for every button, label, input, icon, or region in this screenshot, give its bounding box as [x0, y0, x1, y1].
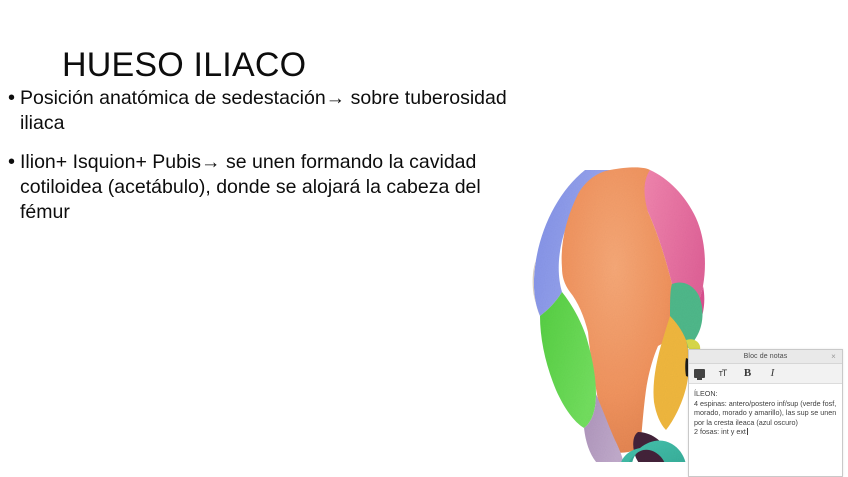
- notepad-toolbar: тT B I: [689, 364, 842, 384]
- notepad-titlebar[interactable]: Bloc de notas ×: [689, 350, 842, 364]
- bold-label: B: [744, 368, 751, 379]
- notepad-window[interactable]: Bloc de notas × тT B I ÍLEON: 4 espinas:…: [688, 349, 843, 477]
- list-item: • Posición anatómica de sedestación→ sob…: [8, 86, 528, 136]
- font-size-icon[interactable]: тT: [715, 366, 730, 381]
- screen-icon[interactable]: [694, 369, 705, 378]
- notepad-line: ÍLEON:: [694, 389, 838, 399]
- bullet-text: Posición anatómica de sedestación→ sobre…: [20, 86, 528, 136]
- page-title: HUESO ILIACO: [62, 48, 306, 84]
- list-item: • Ilion+ Isquion+ Pubis→ se unen formand…: [8, 150, 528, 225]
- close-icon[interactable]: ×: [828, 350, 839, 363]
- bullet-text: Ilion+ Isquion+ Pubis→ se unen formando …: [20, 150, 528, 225]
- notepad-line: 4 espinas: antero/postero inf/sup (verde…: [694, 399, 838, 428]
- bullet-marker: •: [8, 150, 20, 175]
- notepad-line-text: 2 fosas: int y ext: [694, 427, 746, 436]
- bullet-list: • Posición anatómica de sedestación→ sob…: [8, 86, 528, 239]
- font-size-label: тT: [719, 369, 727, 378]
- notepad-textarea[interactable]: ÍLEON: 4 espinas: antero/postero inf/sup…: [689, 384, 842, 476]
- notepad-line-last: 2 fosas: int y ext: [694, 427, 838, 437]
- text-caret: [747, 428, 748, 435]
- italic-icon[interactable]: I: [765, 366, 780, 381]
- italic-label: I: [771, 368, 775, 379]
- bold-icon[interactable]: B: [740, 366, 755, 381]
- notepad-title: Bloc de notas: [744, 350, 788, 363]
- bullet-marker: •: [8, 86, 20, 111]
